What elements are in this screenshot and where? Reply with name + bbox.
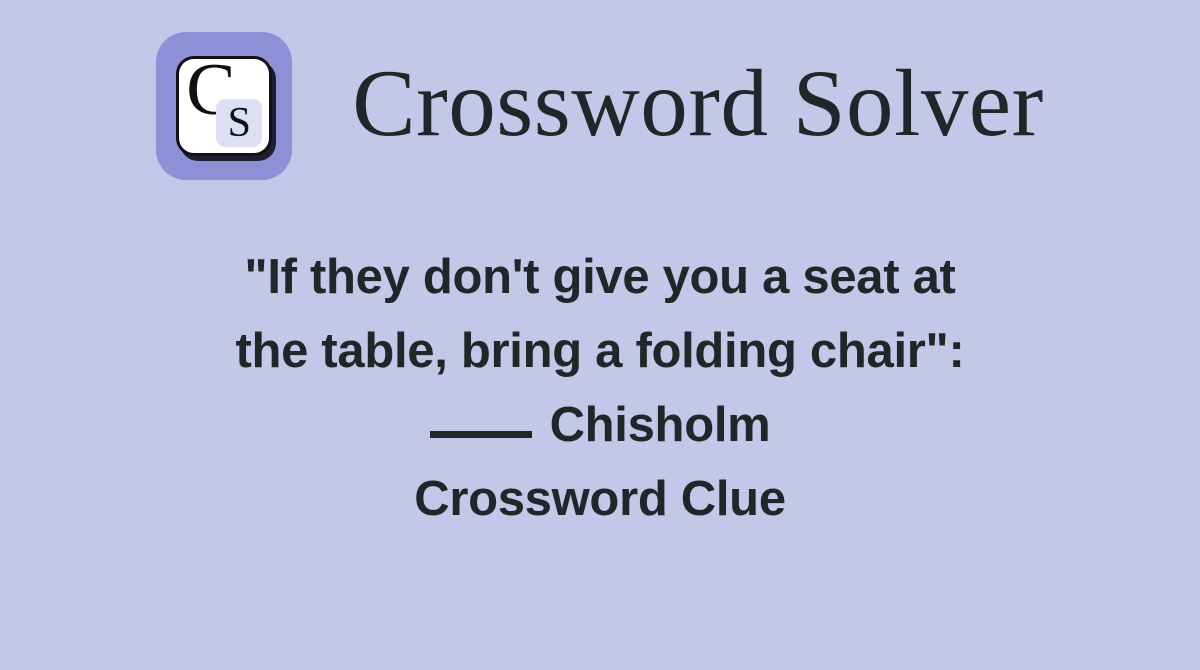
- clue-blank-text: ___: [550, 388, 551, 389]
- crossword-clue-page: C S Crossword Solver "If they don't give…: [0, 0, 1200, 670]
- crossword-solver-logo[interactable]: C S: [156, 32, 292, 180]
- clue-line-3: ___Chisholm: [0, 388, 1200, 462]
- logo-letter-s: S: [216, 99, 262, 147]
- site-header: C S Crossword Solver: [0, 24, 1200, 188]
- logo-badge-tile: S: [216, 99, 262, 147]
- site-title: Crossword Solver: [352, 56, 1043, 157]
- clue-blank-underscore: [430, 431, 532, 438]
- clue-line-4: Crossword Clue: [0, 462, 1200, 536]
- clue-line-2: the table, bring a folding chair":: [0, 314, 1200, 388]
- clue-line-1: "If they don't give you a seat at: [0, 240, 1200, 314]
- clue-answer-subject: Chisholm: [550, 398, 771, 452]
- logo-inner-tile: C S: [176, 56, 272, 156]
- clue-heading: "If they don't give you a seat at the ta…: [0, 240, 1200, 536]
